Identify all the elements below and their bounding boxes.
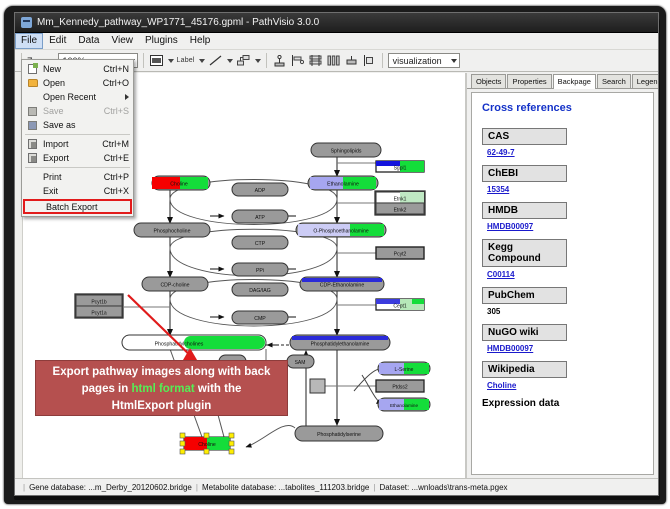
- svg-text:Phosphocholine: Phosphocholine: [154, 229, 191, 235]
- menu-item-accel: Ctrl+S: [104, 106, 129, 116]
- menu-item-accel: Ctrl+O: [103, 78, 129, 88]
- metabolite-node-ctp: CTP: [232, 236, 288, 249]
- dataset-value: ...wnloads\trans-meta.pgex: [411, 483, 507, 492]
- xref-kegg: Kegg Compound C00114: [482, 239, 643, 279]
- file-menu-dropdown: New Ctrl+N Open Ctrl+O Open Recent Save …: [21, 59, 134, 217]
- window-title: Mm_Kennedy_pathway_WP1771_45176.gpml - P…: [37, 17, 319, 28]
- line-tool-icon[interactable]: [208, 53, 223, 68]
- chevron-down-icon: [451, 59, 457, 63]
- xref-link-kegg[interactable]: C00114: [482, 267, 643, 279]
- title-bar: Mm_Kennedy_pathway_WP1771_45176.gpml - P…: [15, 13, 658, 33]
- gene-node-pcyt2: Pcyt2: [376, 247, 424, 259]
- tab-backpage[interactable]: Backpage: [553, 74, 596, 89]
- toolbar-separator: [266, 53, 267, 68]
- xref-nugo: NuGO wiki HMDB00097: [482, 324, 643, 353]
- metabolite-node-ethanolamine-top: Ethanolamine: [308, 176, 378, 190]
- svg-text:L-Serine: L-Serine: [395, 367, 414, 373]
- menu-item-label: Print: [40, 172, 104, 182]
- xref-db-name: NuGO wiki: [482, 324, 567, 341]
- callout-line-2b: with the: [195, 383, 242, 395]
- svg-text:O-Phosphoethanolamine: O-Phosphoethanolamine: [313, 229, 369, 235]
- menu-bar: File Edit Data View Plugins Help: [15, 33, 658, 50]
- menu-item-label: Open Recent: [40, 92, 121, 102]
- menu-edit[interactable]: Edit: [43, 33, 72, 49]
- tab-legend[interactable]: Legend: [632, 74, 658, 88]
- svg-text:Ethanolamine: Ethanolamine: [327, 182, 359, 188]
- chevron-down-icon[interactable]: [168, 59, 174, 63]
- svg-text:Pcyt1a: Pcyt1a: [91, 311, 107, 317]
- label-tool-button[interactable]: Label: [177, 57, 195, 64]
- chevron-down-icon[interactable]: [199, 59, 205, 63]
- svg-text:Phosphatidylserine: Phosphatidylserine: [317, 432, 361, 438]
- xref-cas: CAS 62-49-7: [482, 128, 643, 157]
- xref-db-name: PubChem: [482, 287, 567, 304]
- svg-text:Pcyt1b: Pcyt1b: [91, 300, 107, 306]
- svg-text:Etnk1: Etnk1: [394, 197, 407, 203]
- menu-item-label: Save as: [40, 120, 129, 130]
- gene-node-cept1: Cept1: [376, 299, 424, 310]
- callout-line-2: pages in html format with the: [36, 381, 287, 398]
- menu-item-import[interactable]: Import Ctrl+M: [22, 137, 133, 151]
- order-icon[interactable]: [362, 53, 377, 68]
- save-as-icon: [25, 121, 40, 130]
- metabolite-node-cdp-choline: CDP-choline: [142, 277, 208, 291]
- metabolite-node-cdp-ethanolamine: CDP-Ethanolamine: [300, 277, 384, 291]
- metabolite-node-sam: SAM: [287, 355, 314, 368]
- menu-item-print[interactable]: Print Ctrl+P: [22, 170, 133, 184]
- sidebar-panel: Objects Properties Backpage Search Legen…: [467, 73, 658, 478]
- menu-item-label: Save: [40, 106, 104, 116]
- status-separator: |: [196, 483, 198, 492]
- menu-item-accel: Ctrl+P: [104, 172, 129, 182]
- new-document-icon: [25, 64, 40, 74]
- svg-text:Choline: Choline: [198, 442, 216, 448]
- visualization-combobox[interactable]: visualization: [388, 53, 460, 68]
- callout-line-2a: pages in: [82, 383, 132, 395]
- status-separator: |: [373, 483, 375, 492]
- menu-item-label: Export: [40, 153, 104, 163]
- status-bar: | Gene database: ...m_Derby_20120602.bri…: [15, 478, 658, 495]
- backpage-content: Cross references CAS 62-49-7 ChEBI 15354…: [471, 92, 654, 475]
- menu-item-accel: Ctrl+X: [104, 186, 129, 196]
- svg-text:CMP: CMP: [254, 316, 266, 322]
- align-left-icon[interactable]: [290, 53, 305, 68]
- anchor-tool-icon[interactable]: [272, 53, 287, 68]
- distribute-icon[interactable]: [326, 53, 341, 68]
- svg-text:ATP: ATP: [255, 215, 265, 221]
- menu-plugins[interactable]: Plugins: [139, 33, 184, 49]
- tab-properties[interactable]: Properties: [507, 74, 551, 88]
- chevron-down-icon[interactable]: [255, 59, 261, 63]
- menu-data[interactable]: Data: [72, 33, 105, 49]
- xref-link-chebi[interactable]: 15354: [482, 182, 643, 194]
- toolbar-separator: [382, 53, 383, 68]
- dataset-label: Dataset:: [379, 483, 409, 492]
- xref-pubchem: PubChem 305: [482, 287, 643, 316]
- expression-data-title: Expression data: [482, 398, 643, 409]
- datanode-tool-icon[interactable]: [149, 53, 164, 68]
- cross-references-title: Cross references: [482, 102, 643, 114]
- menu-item-new[interactable]: New Ctrl+N: [22, 62, 133, 76]
- svg-text:Ethanolamine: Ethanolamine: [390, 403, 419, 408]
- metabolite-node-sphingolipids: Sphingolipids: [311, 143, 381, 157]
- xref-db-name: Wikipedia: [482, 361, 567, 378]
- gene-node-pcyt1a: Pcyt1a: [76, 306, 122, 317]
- menu-item-accel: Ctrl+E: [104, 153, 129, 163]
- xref-db-name: HMDB: [482, 202, 567, 219]
- metabolite-node-phosphatidylethanolamine: Phosphatidylethanolamine: [290, 335, 390, 350]
- callout-highlight: html format: [131, 383, 194, 395]
- gene-database-label: Gene database:: [29, 483, 86, 492]
- metabolite-node-o-phosphoethanolamine: O-Phosphoethanolamine: [296, 223, 386, 237]
- svg-text:ADP: ADP: [255, 188, 266, 194]
- svg-text:Etnk2: Etnk2: [394, 208, 407, 214]
- tab-search[interactable]: Search: [597, 74, 631, 88]
- menu-item-save-as[interactable]: Save as: [22, 118, 133, 132]
- save-icon: [25, 107, 40, 116]
- chevron-down-icon[interactable]: [227, 59, 233, 63]
- menu-item-exit[interactable]: Exit Ctrl+X: [22, 184, 133, 198]
- xref-hmdb: HMDB HMDB00097: [482, 202, 643, 231]
- metabolite-node-adp: ADP: [232, 183, 288, 196]
- svg-text:CDP-Ethanolamine: CDP-Ethanolamine: [320, 283, 365, 289]
- menu-help[interactable]: Help: [184, 33, 217, 49]
- gene-database-value: ...m_Derby_20120602.bridge: [88, 483, 192, 492]
- desktop-background: Mm_Kennedy_pathway_WP1771_45176.gpml - P…: [0, 0, 670, 509]
- interaction-tool-icon[interactable]: [236, 53, 251, 68]
- metabolite-node-cmp: CMP: [232, 311, 288, 324]
- menu-item-label: Import: [40, 139, 102, 149]
- metabolite-node-dag-iag: DAG/IAG: [232, 283, 288, 296]
- visualization-value: visualization: [393, 56, 442, 66]
- menu-item-accel: Ctrl+M: [102, 139, 129, 149]
- import-icon: [25, 139, 40, 149]
- menu-item-batch-export[interactable]: Batch Export: [23, 199, 132, 214]
- metabolite-node-ethanolamine-2: Ethanolamine: [378, 398, 430, 411]
- metabolite-database-value: ...tabolites_111203.bridge: [278, 483, 369, 492]
- xref-link-nugo[interactable]: HMDB00097: [482, 341, 643, 353]
- svg-text:Phosphatidylcholines: Phosphatidylcholines: [155, 342, 204, 348]
- pathvisio-application-window: Mm_Kennedy_pathway_WP1771_45176.gpml - P…: [14, 12, 659, 496]
- menu-item-label: New: [40, 64, 103, 74]
- callout-line-1: Export pathway images along with back: [36, 364, 287, 381]
- svg-text:CTP: CTP: [255, 241, 266, 247]
- menu-item-label: Batch Export: [43, 202, 126, 212]
- toolbar-separator: [143, 53, 144, 68]
- xref-db-name: CAS: [482, 128, 567, 145]
- metabolite-node-phosphatidylserine: Phosphatidylserine: [295, 426, 383, 441]
- metabolite-node-phosphatidylcholines: Phosphatidylcholines: [122, 335, 266, 350]
- gene-node-etnk1: Etnk1: [376, 192, 424, 203]
- gene-node-etnk2: Etnk2: [376, 203, 424, 214]
- metabolite-node-ppi: PPi: [232, 263, 288, 276]
- svg-text:Cept1: Cept1: [393, 304, 407, 310]
- chevron-right-icon: [125, 94, 129, 100]
- menu-item-open-recent[interactable]: Open Recent: [22, 90, 133, 104]
- xref-link-wikipedia[interactable]: Choline: [482, 378, 643, 390]
- svg-text:CDP-choline: CDP-choline: [160, 283, 189, 289]
- xref-chebi: ChEBI 15354: [482, 165, 643, 194]
- metabolite-node-choline-bottom-selected: Choline: [180, 433, 234, 454]
- svg-text:SAM: SAM: [295, 360, 306, 366]
- gene-node-pcyt1b: Pcyt1b: [76, 295, 122, 306]
- xref-db-name: Kegg Compound: [482, 239, 567, 267]
- status-separator: |: [23, 483, 25, 492]
- metabolite-node-phosphocholine: Phosphocholine: [134, 223, 210, 237]
- open-folder-icon: [25, 79, 40, 87]
- menu-item-save: Save Ctrl+S: [22, 104, 133, 118]
- sidebar-tabstrip: Objects Properties Backpage Search Legen…: [467, 73, 658, 89]
- menu-item-label: Open: [40, 78, 103, 88]
- align-stack-icon[interactable]: [308, 53, 323, 68]
- xref-link-hmdb[interactable]: HMDB00097: [482, 219, 643, 231]
- svg-text:Ptdss2: Ptdss2: [392, 385, 408, 391]
- pathvisio-icon: [21, 17, 32, 28]
- menu-item-label: Exit: [40, 186, 104, 196]
- menu-item-open[interactable]: Open Ctrl+O: [22, 76, 133, 90]
- xref-link-cas[interactable]: 62-49-7: [482, 145, 643, 157]
- metabolite-database-label: Metabolite database:: [202, 483, 276, 492]
- gene-node-sgpl1: Sgpl1: [376, 161, 424, 172]
- size-icon[interactable]: [344, 53, 359, 68]
- svg-text:Sgpl1: Sgpl1: [394, 166, 407, 172]
- xref-db-name: ChEBI: [482, 165, 567, 182]
- svg-text:Sphingolipids: Sphingolipids: [331, 149, 362, 155]
- metabolite-node-choline-top: Choline: [152, 176, 210, 190]
- xref-value-pubchem: 305: [482, 304, 643, 316]
- menu-separator: [25, 167, 130, 168]
- callout-line-3: HtmlExport plugin: [36, 398, 287, 415]
- svg-text:Pcyt2: Pcyt2: [394, 252, 407, 258]
- metabolite-node-l-serine: L-Serine: [378, 362, 430, 375]
- gene-node-ptdss2: Ptdss2: [376, 380, 424, 392]
- svg-text:Choline: Choline: [170, 182, 188, 188]
- svg-text:DAG/IAG: DAG/IAG: [249, 288, 271, 294]
- menu-view[interactable]: View: [105, 33, 139, 49]
- metabolite-node-atp: ATP: [232, 210, 288, 223]
- menu-item-export[interactable]: Export Ctrl+E: [22, 151, 133, 165]
- xref-wikipedia: Wikipedia Choline: [482, 361, 643, 390]
- annotation-callout: Export pathway images along with back pa…: [35, 360, 288, 416]
- export-icon: [25, 153, 40, 163]
- tab-objects[interactable]: Objects: [471, 74, 506, 88]
- svg-text:Phosphatidylethanolamine: Phosphatidylethanolamine: [311, 342, 370, 348]
- svg-text:PPi: PPi: [256, 268, 264, 274]
- menu-separator: [25, 134, 130, 135]
- menu-item-accel: Ctrl+N: [103, 64, 129, 74]
- menu-file[interactable]: File: [15, 33, 43, 49]
